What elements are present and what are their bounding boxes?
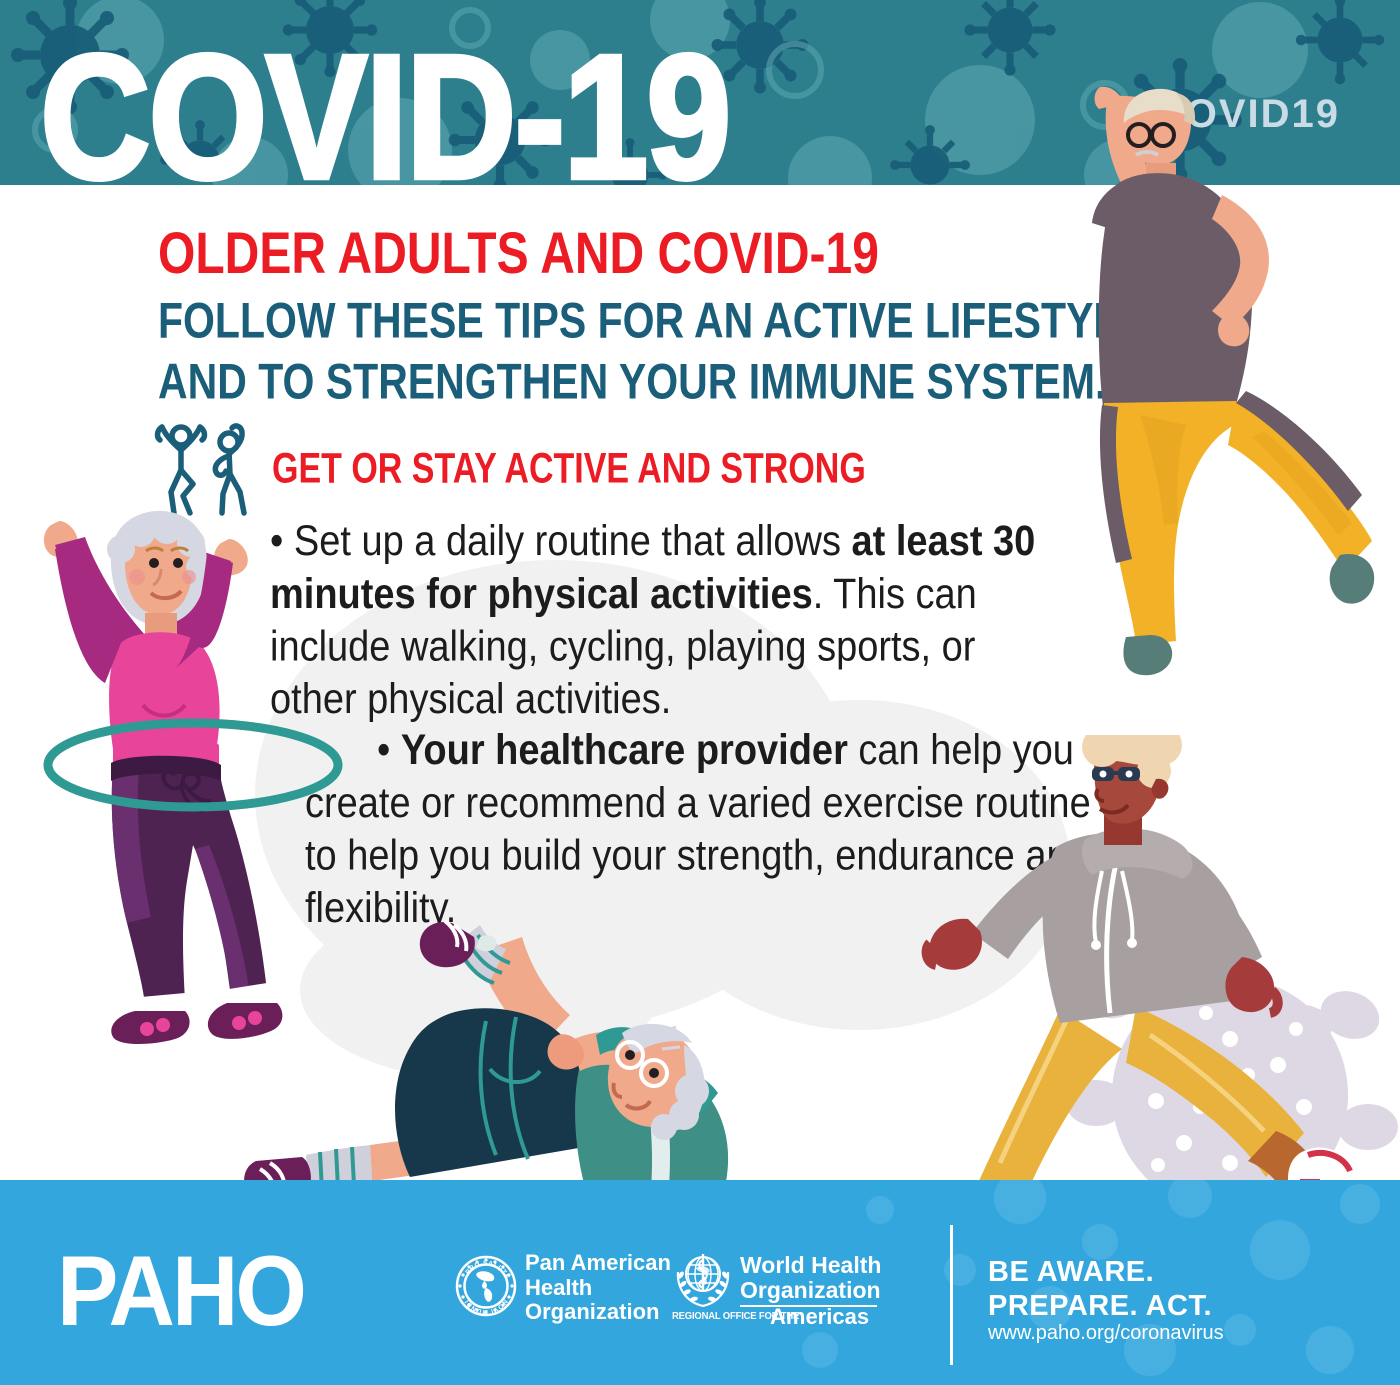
bullet-item-1: • Set up a daily routine that allows at …	[270, 516, 1060, 727]
paho-line-2: Health	[525, 1276, 671, 1301]
two-people-stretching-icon	[150, 418, 266, 518]
campaign-url[interactable]: www.paho.org/coronavirus	[988, 1322, 1224, 1345]
older-man-jumping-illustration	[1000, 85, 1400, 685]
sub-headline-line-1: FOLLOW THESE TIPS FOR AN ACTIVE LIFESTYL…	[158, 290, 1146, 351]
slogan-line-2: PREPARE. ACT.	[988, 1289, 1212, 1323]
older-man-lying-stretch-illustration	[240, 915, 810, 1205]
paho-line-1: Pan American	[525, 1251, 671, 1276]
paho-seal-icon: PRO SALUTE NOVI MUNDI	[455, 1255, 517, 1322]
footer-vertical-divider	[950, 1225, 953, 1365]
slogan-line-1: BE AWARE.	[988, 1255, 1212, 1289]
sub-headline: FOLLOW THESE TIPS FOR AN ACTIVE LIFESTYL…	[158, 290, 1146, 412]
older-woman-running-illustration	[900, 735, 1400, 1255]
main-headline: OLDER ADULTS AND COVID-19	[158, 224, 879, 285]
paho-wordmark: PAHO	[57, 1242, 304, 1341]
who-org-name: World Health Organization	[740, 1253, 881, 1303]
paho-line-3: Organization	[525, 1300, 671, 1325]
sub-headline-line-2: AND TO STRENGTHEN YOUR IMMUNE SYSTEM.	[158, 351, 1146, 412]
who-emblem-icon	[672, 1248, 734, 1315]
covid19-older-adults-infographic: COVID-19 #COVID19 OLDER ADULTS AND COVID…	[0, 0, 1400, 1385]
who-americas-label: Americas	[770, 1304, 869, 1330]
paho-org-name: Pan American Health Organization	[525, 1251, 671, 1325]
campaign-slogan: BE AWARE. PREPARE. ACT.	[988, 1255, 1212, 1323]
section-title: GET OR STAY ACTIVE AND STRONG	[272, 445, 866, 494]
who-line-2: Organization	[740, 1278, 881, 1303]
page-title: COVID-19	[40, 28, 729, 185]
who-line-1: World Health	[740, 1253, 881, 1278]
